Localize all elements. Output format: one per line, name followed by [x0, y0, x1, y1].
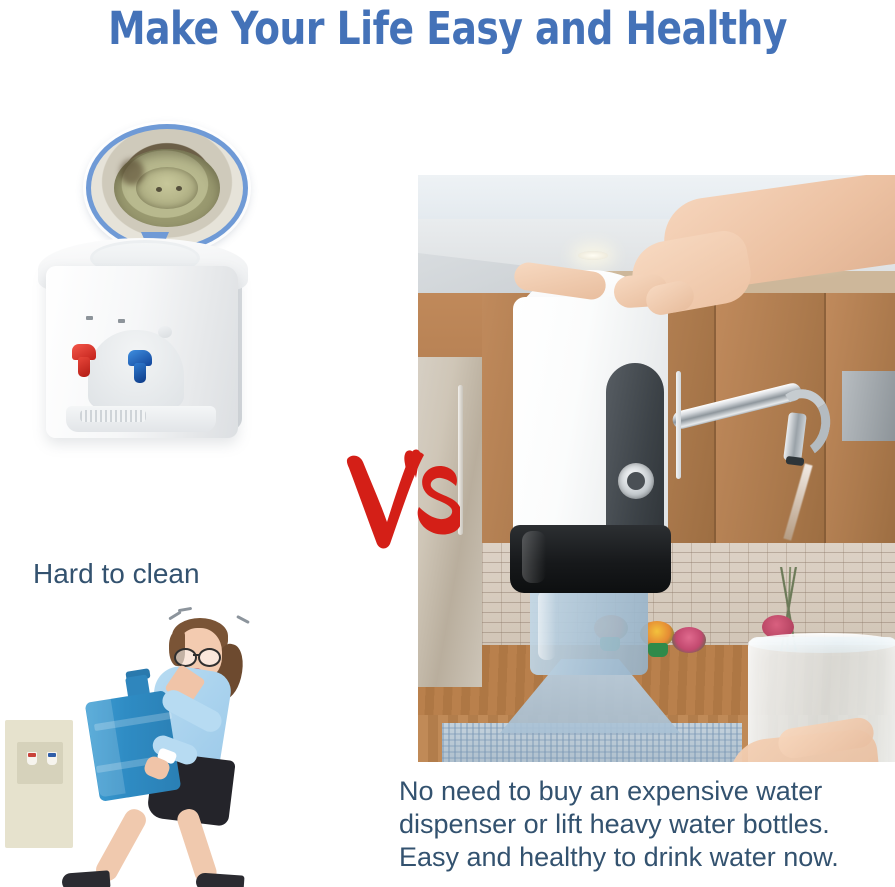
product-photo: [418, 175, 895, 762]
water-cooler-illustration: [8, 118, 308, 458]
effort-mark-icon: [236, 615, 250, 624]
caption-line-2: dispenser or lift heavy water bottles.: [399, 808, 895, 841]
range-hood: [842, 371, 895, 441]
indicator-led-icon: [118, 319, 125, 323]
pump-tube: [676, 371, 681, 479]
drip-tray-grate: [80, 410, 146, 422]
bottle-highlight: [538, 590, 556, 660]
reservoir-core: [136, 167, 198, 209]
reservoir-interior: [114, 149, 220, 227]
reservoir-hole-icon: [176, 186, 182, 191]
reservoir-hole-icon: [156, 187, 162, 192]
indicator-led-icon: [86, 316, 93, 320]
grime-smudge: [120, 159, 144, 185]
shoe: [195, 872, 244, 887]
effort-mark-icon: [168, 611, 181, 621]
spout-connector: [618, 463, 654, 499]
collar-highlight: [522, 531, 546, 583]
cold-cup-icon: [47, 752, 57, 765]
glasses-icon: [174, 648, 222, 663]
caption-line-1: No need to buy an expensive water: [399, 775, 895, 808]
cooler-knob: [158, 326, 172, 338]
effort-mark-icon: [178, 607, 192, 612]
left-comparison-panel: Hard to clean: [0, 88, 340, 878]
shoe: [61, 870, 110, 887]
hot-water-tap-icon: [72, 344, 96, 378]
recessed-light-icon: [578, 251, 608, 260]
background-dispenser: [5, 720, 73, 848]
woman-lifting-illustration: [0, 608, 330, 887]
caption-line-3: Easy and healthy to drink water now.: [399, 841, 895, 874]
product-advertisement-image: Make Your Life Easy and Healthy: [0, 0, 895, 887]
product-benefit-caption: No need to buy an expensive water dispen…: [399, 775, 895, 874]
hot-cup-icon: [27, 752, 37, 765]
flower-pot-icon: [672, 627, 706, 653]
pot: [648, 643, 668, 657]
cold-water-tap-icon: [128, 350, 152, 384]
caption-hard-to-clean: Hard to clean: [33, 558, 200, 590]
page-title: Make Your Life Easy and Healthy: [31, 2, 863, 55]
vs-badge-icon: [340, 440, 460, 550]
